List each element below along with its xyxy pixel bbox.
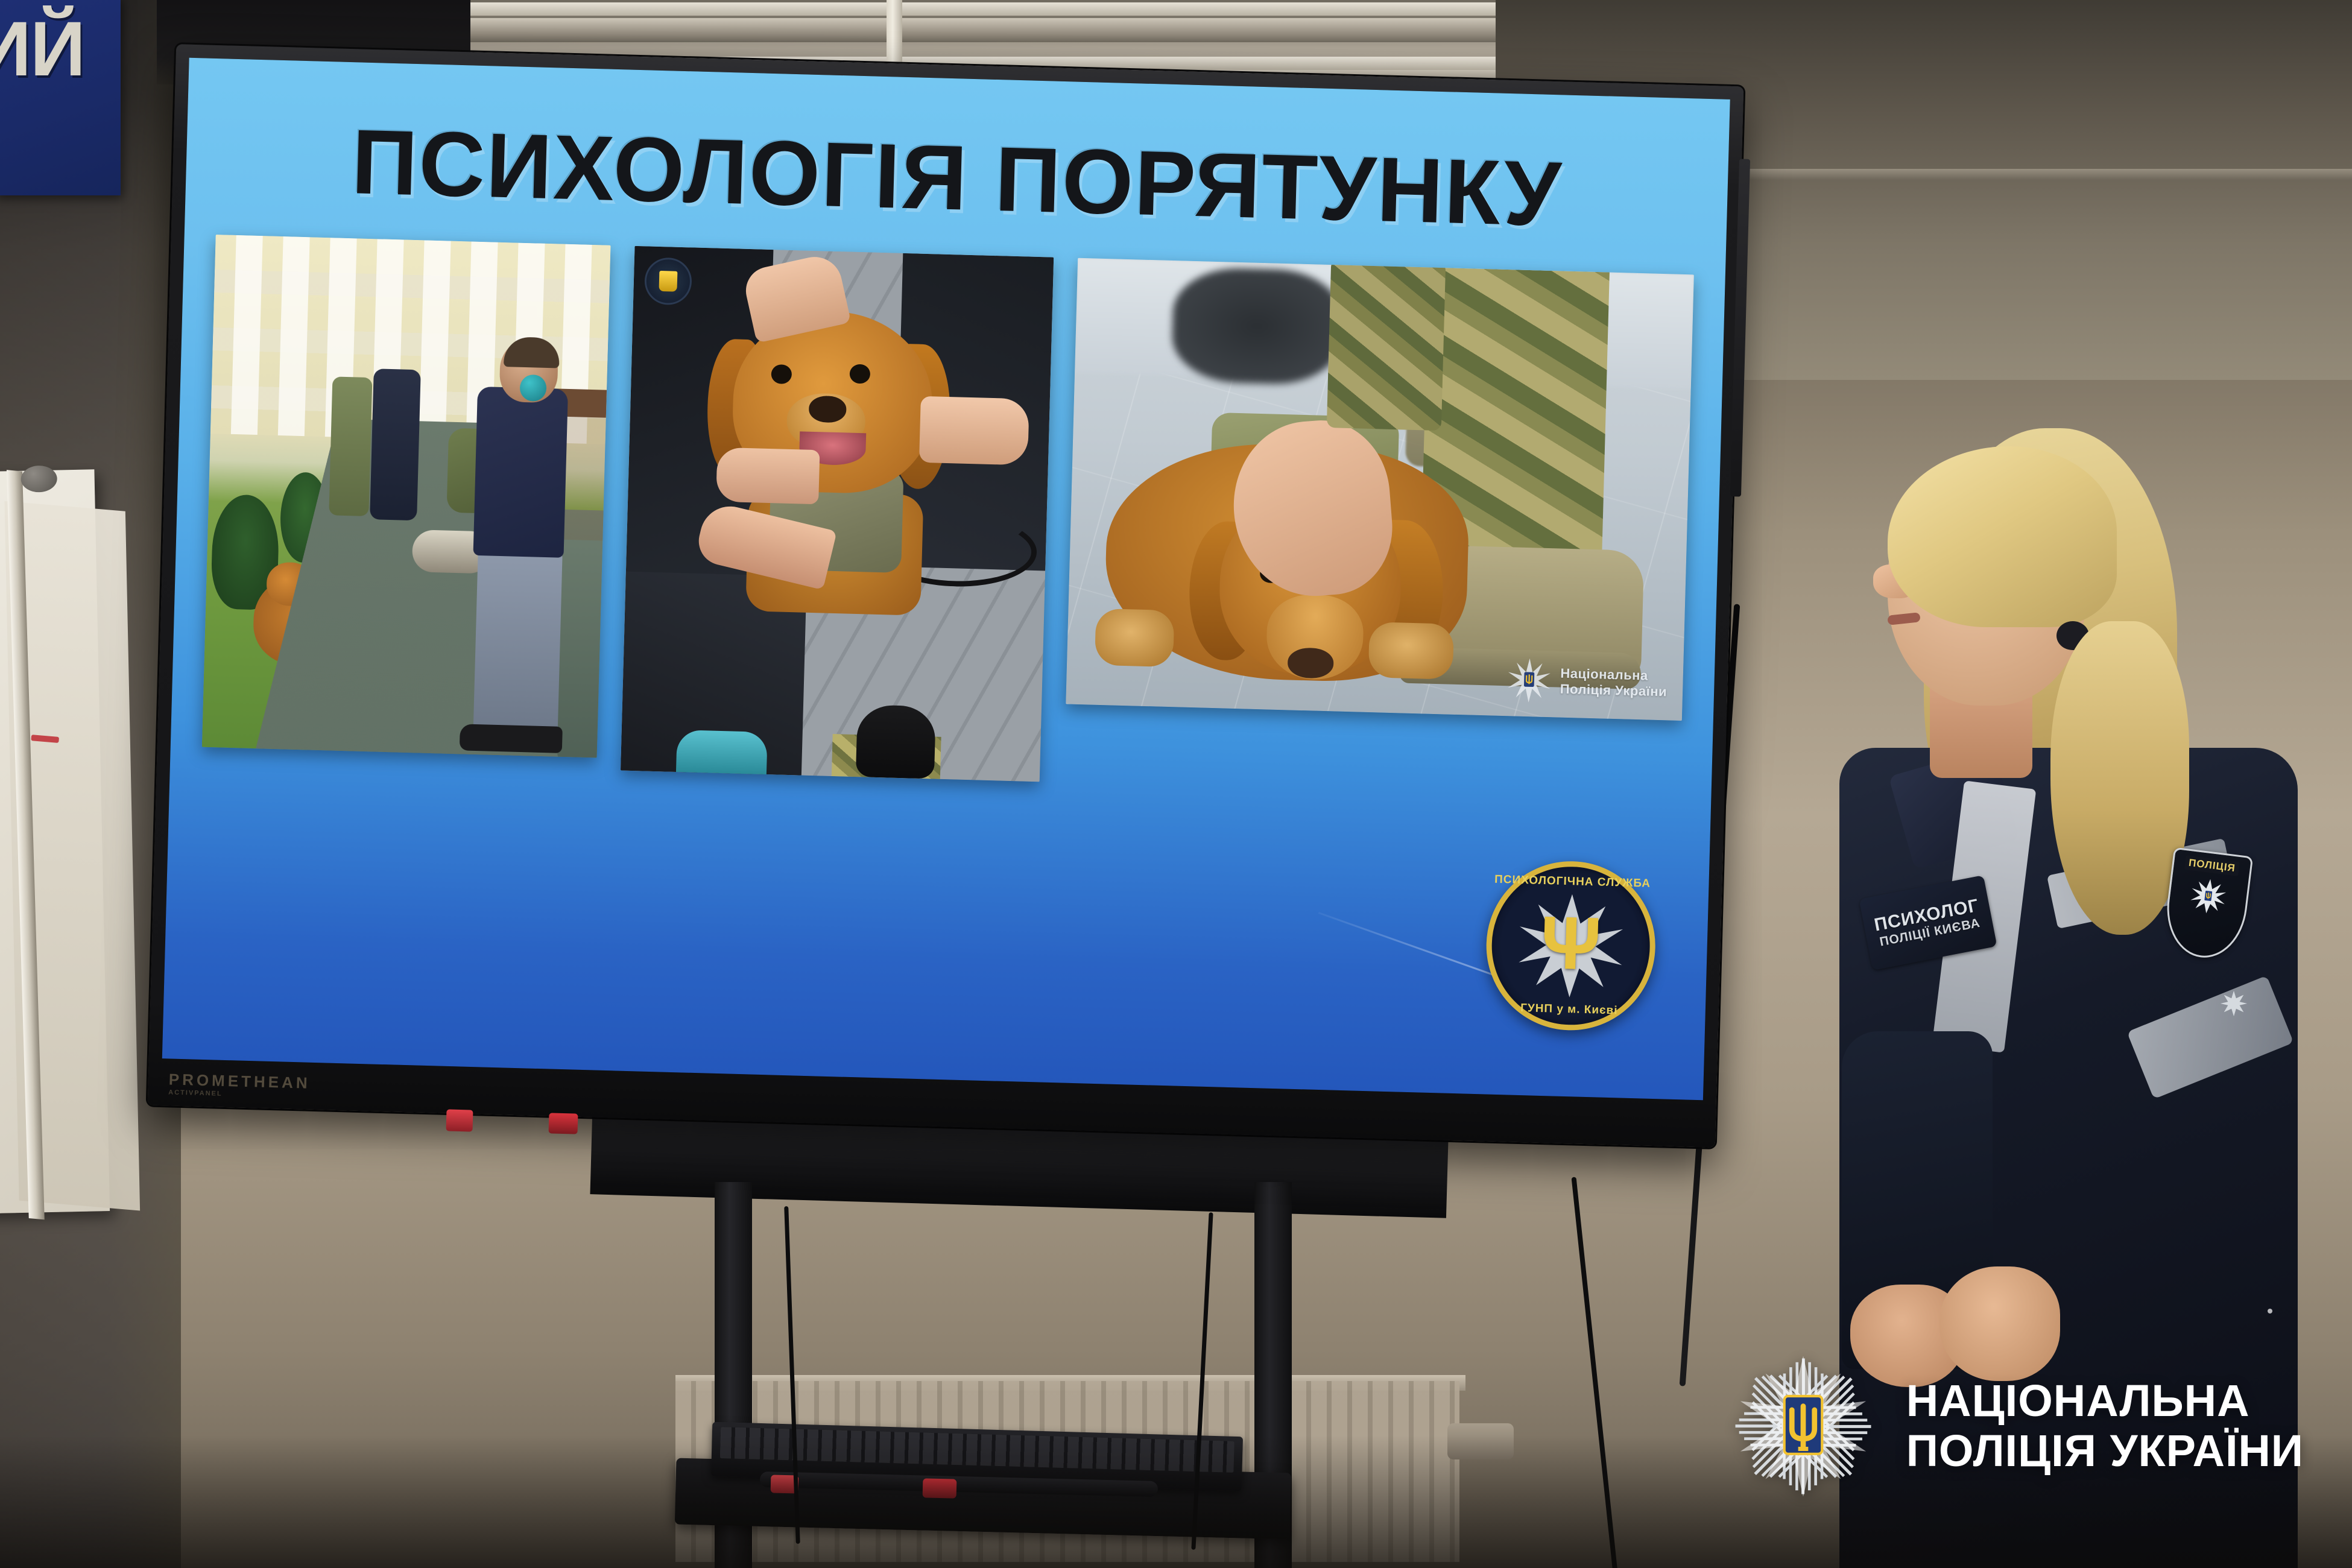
slide-photo-spaniel-lying-with-soldier: Національна Поліція України: [1066, 258, 1694, 721]
police-star-trident-icon: [1728, 1351, 1879, 1502]
display-screen[interactable]: ПСИХОЛОГІЯ ПОРЯТУНКУ: [162, 58, 1730, 1101]
watermark-line1: НАЦІОНАЛЬНА: [1906, 1376, 2304, 1426]
marker-pen-red[interactable]: [446, 1109, 473, 1131]
wall-banner-text: ИЙ: [0, 5, 96, 93]
photo3-watermark: Національна Поліція України: [1505, 657, 1668, 707]
display-brand-name: PROMETHEAN: [168, 1070, 259, 1091]
presentation-room-scene: ИЙ ПСИХОЛОГІЯ ПОРЯТУНКУ: [0, 0, 2352, 1568]
police-star-icon: [2187, 876, 2229, 917]
wall-banner: ИЙ: [0, 0, 121, 195]
psychological-service-badge: Ψ ПСИХОЛОГІЧНА СЛУЖБА ГУНП у м. Києві: [1484, 859, 1657, 1032]
display-brand-logo: PROMETHEAN ACTIVPANEL: [168, 1070, 259, 1097]
slide-photo-row: Національна Поліція України: [202, 235, 1694, 787]
slide-photo-spaniel-being-petted: [621, 246, 1054, 782]
watermark-line2: ПОЛІЦІЯ УКРАЇНИ: [1906, 1426, 2304, 1476]
rank-star-icon: [2219, 989, 2248, 1018]
photo3-watermark-text: Національна Поліція України: [1560, 666, 1668, 700]
presentation-slide: ПСИХОЛОГІЯ ПОРЯТУНКУ: [162, 58, 1730, 1101]
photo3-watermark-line2: Поліція України: [1560, 681, 1667, 700]
marker-pen-red[interactable]: [549, 1113, 578, 1134]
light-glint: [2268, 1309, 2272, 1314]
interactive-display-panel[interactable]: ПСИХОЛОГІЯ ПОРЯТУНКУ: [148, 44, 1744, 1148]
watermark-text: НАЦІОНАЛЬНА ПОЛІЦІЯ УКРАЇНИ: [1906, 1376, 2304, 1476]
slide-photo-courtyard-therapy-dogs: [202, 235, 611, 757]
slide-title: ПСИХОЛОГІЯ ПОРЯТУНКУ: [185, 105, 1729, 252]
photo1-man: [447, 332, 586, 757]
psi-symbol: Ψ: [1540, 905, 1602, 982]
police-star-icon: [1505, 657, 1552, 704]
ponytail: [2050, 621, 2189, 935]
shoulder-patch-label: ПОЛІЦІЯ: [2184, 855, 2240, 876]
psy-badge-bottom-text: ГУНП у м. Києві: [1490, 1001, 1648, 1019]
national-police-watermark: НАЦІОНАЛЬНА ПОЛІЦІЯ УКРАЇНИ: [1728, 1351, 2304, 1502]
